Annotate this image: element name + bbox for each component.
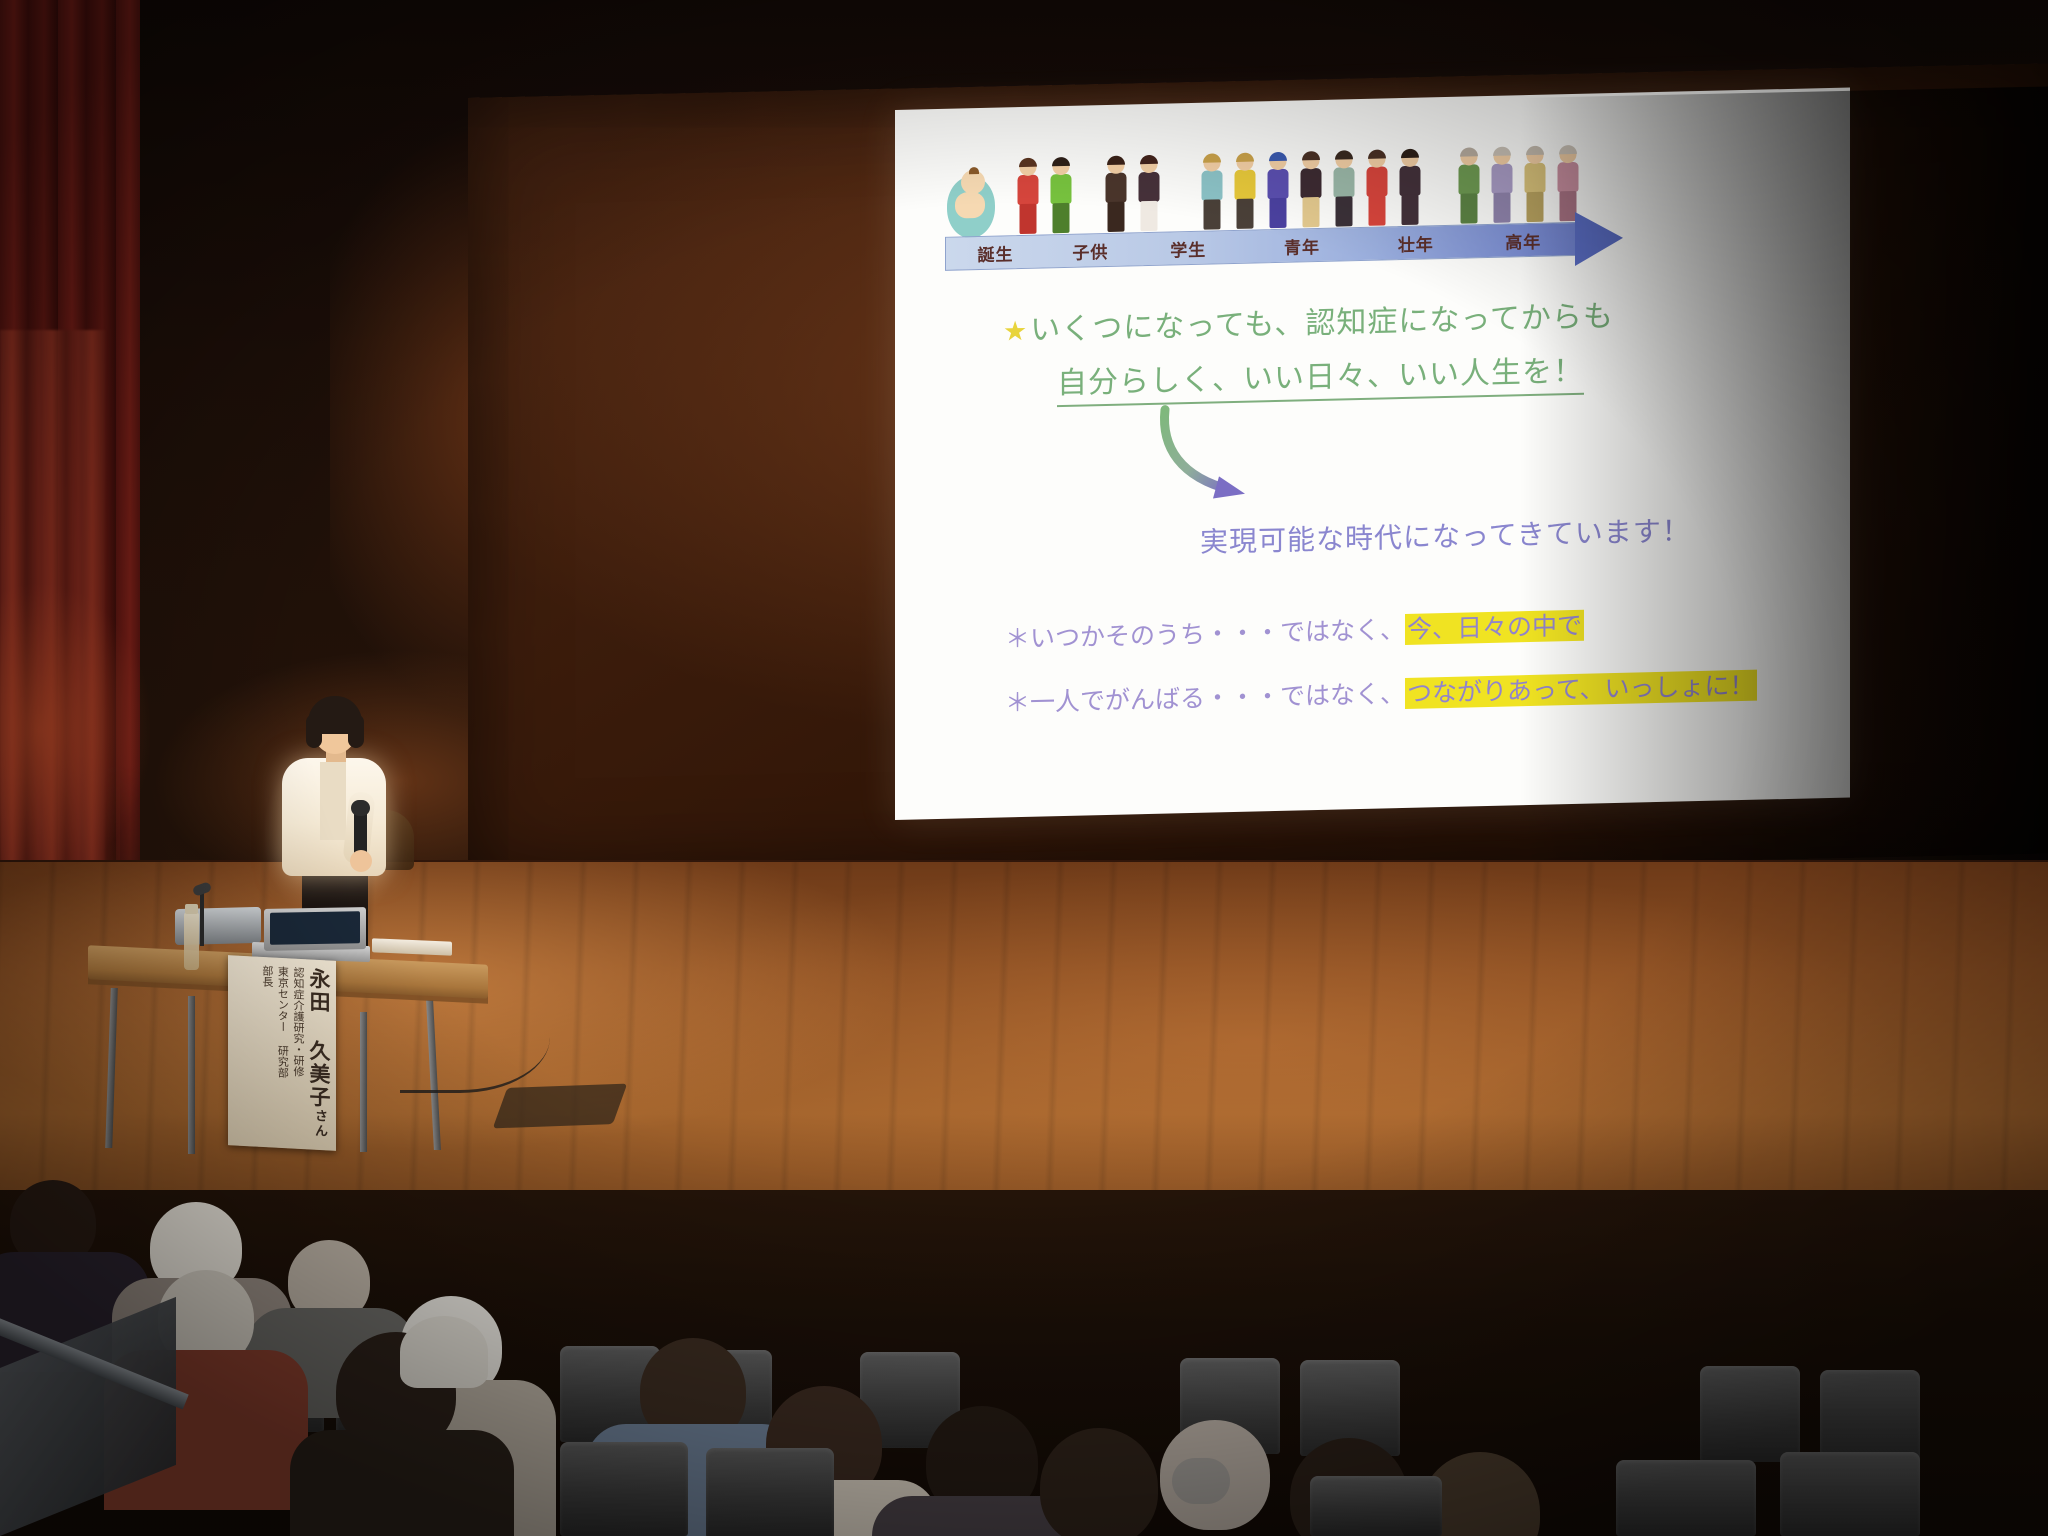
auditorium-seat [560, 1442, 688, 1536]
slide-line-2: 自分らしく、いい日々、いい人生を！ [1057, 346, 1584, 407]
child-figure [1013, 159, 1043, 238]
figure-group-children [1013, 158, 1079, 238]
screenshot-root: 誕生 子供 学生 青年 壮年 高年 ★いくつになっても、認知症になってからも 自… [0, 0, 2048, 1536]
microphone-head-icon [351, 800, 370, 816]
stage-label-middle: 壮年 [1362, 229, 1469, 257]
auditorium-seat [1780, 1452, 1920, 1536]
auditorium-seat [1310, 1476, 1442, 1536]
figure-group-students [1101, 156, 1167, 236]
slide-bullet-1: ＊いつかそのうち・・・ではなく、今、日々の中で [1005, 606, 1584, 656]
placard-org-line-1: 認知症介護研究・研修 [292, 967, 304, 1142]
senior-figure [1487, 147, 1517, 226]
audience-eyeglasses-icon [1172, 1458, 1230, 1504]
table-leg [360, 1012, 367, 1152]
auditorium-seat [1616, 1460, 1756, 1536]
placard-org-line-3: 部長 [261, 965, 273, 1140]
laptop-screen [270, 911, 360, 945]
adult-figure [1329, 151, 1359, 230]
audience-head [1040, 1428, 1158, 1536]
audience-shoulders [290, 1430, 514, 1536]
stage-label-youth: 青年 [1242, 231, 1362, 259]
curtain-spotlight-glow [0, 560, 150, 890]
bullet-1-prefix: ＊いつかそのうち・・・ではなく、 [1005, 615, 1405, 653]
placard-honorific: さん [312, 1109, 327, 1140]
adult-figure [1230, 153, 1260, 232]
adult-figure [1197, 154, 1227, 233]
figure-group-baby [947, 165, 1013, 239]
stage-label-birth: 誕生 [945, 239, 1046, 266]
figure-group-adults [1197, 149, 1428, 232]
microphone-stand [200, 890, 204, 946]
table-leg [188, 996, 195, 1154]
name-placard: 永田 久美子さん 認知症介護研究・研修 東京センター 研究部 部長 [228, 955, 336, 1151]
speaker-hand [350, 850, 372, 872]
student-figure [1134, 156, 1164, 235]
auditorium-seat [706, 1448, 834, 1536]
star-icon: ★ [1003, 316, 1028, 348]
bottle-cap [185, 904, 198, 914]
placard-org-line-2: 東京センター 研究部 [277, 966, 289, 1141]
adult-figure [1362, 150, 1392, 229]
stage-label-child: 子供 [1046, 237, 1134, 264]
baby-figure [947, 166, 995, 239]
adult-figure [1263, 153, 1293, 232]
bullet-2-prefix: ＊一人でがんばる・・・ではなく、 [1005, 679, 1405, 717]
audience-cap [400, 1316, 488, 1388]
screen-right-shadow [1520, 86, 2048, 898]
audience-seating-area [0, 1190, 2048, 1536]
adult-figure [1296, 152, 1326, 231]
placard-name: 永田 久美子さん [308, 967, 330, 1142]
water-bottle [184, 912, 199, 970]
speaker-hair [308, 696, 362, 734]
floor-mat [493, 1084, 628, 1129]
stage-label-student: 学生 [1135, 234, 1242, 262]
adult-figure [1395, 150, 1425, 229]
auditorium-seat [1700, 1366, 1800, 1462]
senior-figure [1454, 148, 1484, 227]
student-figure [1101, 156, 1131, 235]
speaker-inner-top [320, 762, 346, 840]
child-figure [1046, 158, 1076, 237]
curved-arrow-icon [1153, 401, 1293, 516]
